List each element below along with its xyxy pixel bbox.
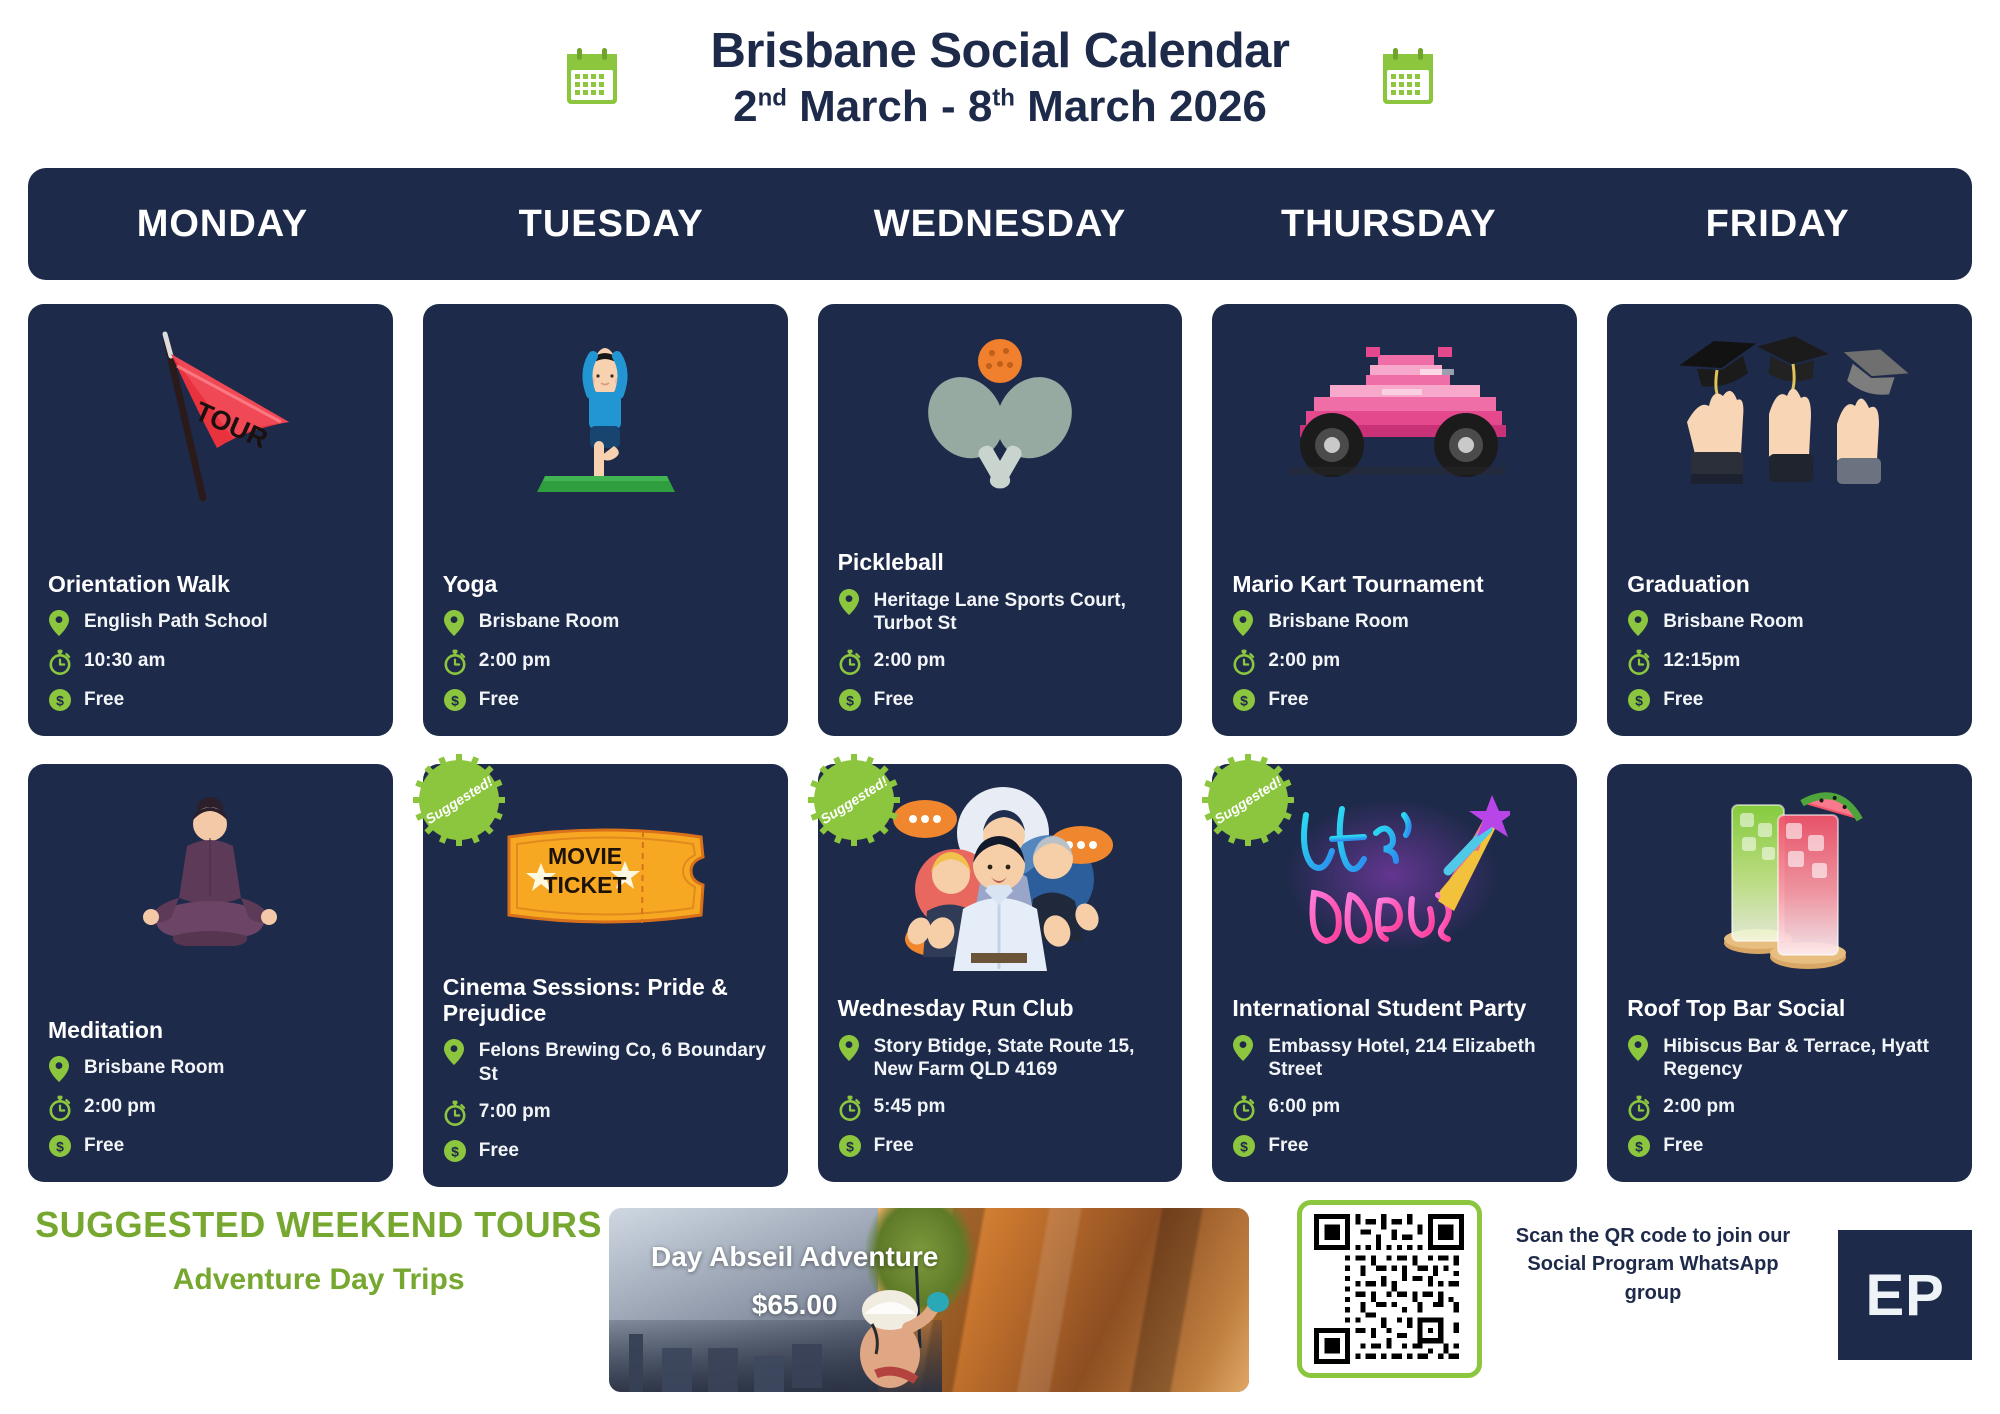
date-end-ordinal: th <box>992 85 1015 112</box>
qr-code-icon <box>1314 1214 1464 1364</box>
svg-text:$: $ <box>1240 1139 1248 1155</box>
whatsapp-qr-code[interactable] <box>1297 1200 1482 1378</box>
stopwatch-icon <box>838 649 862 675</box>
event-price: Free <box>1663 1133 1703 1158</box>
svg-text:$: $ <box>846 693 854 709</box>
location-pin-icon <box>1232 610 1256 636</box>
event-time: 10:30 am <box>84 648 165 673</box>
location-pin-icon <box>443 1039 467 1065</box>
promo-title: Day Abseil Adventure <box>609 1242 980 1273</box>
event-time-row: 2:00 pm <box>443 648 768 675</box>
event-title: Graduation <box>1627 571 1952 597</box>
dollar-coin-icon: $ <box>1232 688 1256 714</box>
event-location: Brisbane Room <box>1268 609 1408 634</box>
event-title: International Student Party <box>1232 995 1557 1021</box>
meditation-person-icon <box>48 778 373 974</box>
svg-text:$: $ <box>1635 1139 1643 1155</box>
event-card[interactable]: Meditation Brisbane Room 2:00 pm <box>28 764 393 1182</box>
weekday-label-monday: MONDAY <box>28 168 417 280</box>
qr-instruction-text: Scan the QR code to join our Social Prog… <box>1508 1222 1799 1307</box>
event-price: Free <box>1268 687 1308 712</box>
svg-text:$: $ <box>846 1139 854 1155</box>
event-card[interactable]: Graduation Brisbane Room 12:15pm <box>1607 304 1972 736</box>
event-price-row: $ Free <box>1627 1133 1952 1160</box>
event-location-row: Brisbane Room <box>1232 609 1557 636</box>
event-card[interactable]: Suggested! <box>1212 764 1577 1182</box>
suggested-tours-heading: SUGGESTED WEEKEND TOURS <box>28 1204 609 1245</box>
event-location: Story Btidge, State Route 15, New Farm Q… <box>874 1034 1163 1083</box>
location-pin-icon <box>1232 1035 1256 1061</box>
event-time-row: 5:45 pm <box>838 1094 1163 1121</box>
event-title: Orientation Walk <box>48 571 373 597</box>
event-price: Free <box>874 687 914 712</box>
suggested-badge: Suggested! <box>411 752 507 848</box>
stopwatch-icon <box>838 1095 862 1121</box>
event-time-row: 10:30 am <box>48 648 373 675</box>
svg-text:$: $ <box>451 693 459 709</box>
calendar-icon <box>563 46 621 113</box>
ep-logo-text: EP <box>1865 1262 1944 1329</box>
suggested-tours-block: SUGGESTED WEEKEND TOURS Adventure Day Tr… <box>28 1196 609 1297</box>
promo-price: $65.00 <box>609 1289 980 1321</box>
weekday-label-wednesday: WEDNESDAY <box>806 168 1195 280</box>
event-location-row: Embassy Hotel, 214 Elizabeth Street <box>1232 1034 1557 1083</box>
svg-text:MOVIE: MOVIE <box>548 843 622 869</box>
event-title: Mario Kart Tournament <box>1232 571 1557 597</box>
event-price: Free <box>1663 687 1703 712</box>
stopwatch-icon <box>48 649 72 675</box>
date-middle: March - 8 <box>787 82 992 131</box>
event-time: 7:00 pm <box>479 1099 551 1124</box>
event-location-row: Felons Brewing Co, 6 Boundary St <box>443 1038 768 1087</box>
event-time: 2:00 pm <box>1663 1094 1735 1119</box>
event-grid: TOUR Orientation Walk English Path Schoo… <box>28 304 1972 1187</box>
stopwatch-icon <box>443 649 467 675</box>
yoga-person-icon <box>443 318 768 514</box>
stopwatch-icon <box>48 1095 72 1121</box>
event-price: Free <box>84 1133 124 1158</box>
location-pin-icon <box>1627 610 1651 636</box>
dollar-coin-icon: $ <box>48 1134 72 1160</box>
dollar-coin-icon: $ <box>443 688 467 714</box>
ep-logo: EP <box>1838 1230 1972 1360</box>
footer: SUGGESTED WEEKEND TOURS Adventure Day Tr… <box>28 1196 1972 1396</box>
event-time-row: 2:00 pm <box>1232 648 1557 675</box>
event-time: 5:45 pm <box>874 1094 946 1119</box>
dollar-coin-icon: $ <box>1627 688 1651 714</box>
stopwatch-icon <box>1232 649 1256 675</box>
event-price-row: $ Free <box>443 1138 768 1165</box>
event-title: Pickleball <box>838 549 1163 575</box>
graduation-caps-icon <box>1627 318 1952 514</box>
event-card[interactable]: Roof Top Bar Social Hibiscus Bar & Terra… <box>1607 764 1972 1182</box>
weekday-label-friday: FRIDAY <box>1583 168 1972 280</box>
date-end: March 2026 <box>1015 82 1267 131</box>
event-location: Brisbane Room <box>1663 609 1803 634</box>
svg-text:$: $ <box>451 1144 459 1160</box>
event-price: Free <box>84 687 124 712</box>
event-location: Hibiscus Bar & Terrace, Hyatt Regency <box>1663 1034 1952 1083</box>
stopwatch-icon <box>1232 1095 1256 1121</box>
event-card[interactable]: TOUR Orientation Walk English Path Schoo… <box>28 304 393 736</box>
event-location-row: Brisbane Room <box>443 609 768 636</box>
day-column-friday: Graduation Brisbane Room 12:15pm <box>1607 304 1972 1187</box>
event-card[interactable]: Mario Kart Tournament Brisbane Room 2:00… <box>1212 304 1577 736</box>
dollar-coin-icon: $ <box>1627 1134 1651 1160</box>
event-title: Yoga <box>443 571 768 597</box>
event-price-row: $ Free <box>443 687 768 714</box>
svg-text:$: $ <box>1635 693 1643 709</box>
location-pin-icon <box>48 610 72 636</box>
event-price-row: $ Free <box>1232 687 1557 714</box>
event-location-row: Brisbane Room <box>48 1055 373 1082</box>
location-pin-icon <box>443 610 467 636</box>
stopwatch-icon <box>1627 649 1651 675</box>
location-pin-icon <box>48 1056 72 1082</box>
event-card[interactable]: Yoga Brisbane Room 2:00 pm <box>423 304 788 736</box>
location-pin-icon <box>838 1035 862 1061</box>
event-price-row: $ Free <box>1232 1133 1557 1160</box>
event-price: Free <box>479 1138 519 1163</box>
event-location-row: Story Btidge, State Route 15, New Farm Q… <box>838 1034 1163 1083</box>
event-time: 2:00 pm <box>1268 648 1340 673</box>
svg-text:$: $ <box>56 1139 64 1155</box>
event-location: Brisbane Room <box>84 1055 224 1080</box>
calendar-icon <box>1379 46 1437 113</box>
page-header: Brisbane Social Calendar 2nd March - 8th… <box>0 0 2000 158</box>
event-title: Roof Top Bar Social <box>1627 995 1952 1021</box>
event-card[interactable]: Suggested! MOVIE TICKET Cinema <box>423 764 788 1187</box>
event-price: Free <box>874 1133 914 1158</box>
event-time-row: 6:00 pm <box>1232 1094 1557 1121</box>
suggested-badge: Suggested! <box>1200 752 1296 848</box>
event-time-row: 12:15pm <box>1627 648 1952 675</box>
event-time: 2:00 pm <box>874 648 946 673</box>
event-location-row: Hibiscus Bar & Terrace, Hyatt Regency <box>1627 1034 1952 1083</box>
calendar-page: Brisbane Social Calendar 2nd March - 8th… <box>0 0 2000 1414</box>
weekday-label-tuesday: TUESDAY <box>417 168 806 280</box>
suggested-tours-subheading: Adventure Day Trips <box>28 1263 609 1297</box>
event-price-row: $ Free <box>838 687 1163 714</box>
svg-text:TICKET: TICKET <box>544 872 627 898</box>
pickleball-paddles-icon <box>838 318 1163 514</box>
event-location: Embassy Hotel, 214 Elizabeth Street <box>1268 1034 1557 1083</box>
go-kart-icon <box>1232 318 1557 514</box>
dollar-coin-icon: $ <box>48 688 72 714</box>
event-location: English Path School <box>84 609 268 634</box>
location-pin-icon <box>1627 1035 1651 1061</box>
dollar-coin-icon: $ <box>443 1139 467 1165</box>
event-title: Meditation <box>48 1017 373 1043</box>
event-time: 6:00 pm <box>1268 1094 1340 1119</box>
event-time: 12:15pm <box>1663 648 1740 673</box>
dollar-coin-icon: $ <box>1232 1134 1256 1160</box>
promo-text: Day Abseil Adventure $65.00 <box>609 1242 980 1321</box>
stopwatch-icon <box>443 1100 467 1126</box>
event-title: Cinema Sessions: Pride & Prejudice <box>443 974 768 1026</box>
weekday-label-thursday: THURSDAY <box>1194 168 1583 280</box>
event-card[interactable]: Suggested! <box>818 764 1183 1182</box>
event-location: Brisbane Room <box>479 609 619 634</box>
date-start-day: 2 <box>733 82 757 131</box>
event-location-row: Heritage Lane Sports Court, Turbot St <box>838 588 1163 637</box>
day-column-tuesday: Yoga Brisbane Room 2:00 pm <box>423 304 788 1187</box>
tour-flag-icon: TOUR <box>48 318 373 514</box>
event-time-row: 2:00 pm <box>838 648 1163 675</box>
event-time-row: 7:00 pm <box>443 1099 768 1126</box>
weekend-tour-promo-card[interactable]: Day Abseil Adventure $65.00 <box>609 1208 1248 1392</box>
stopwatch-icon <box>1627 1095 1651 1121</box>
event-card[interactable]: Pickleball Heritage Lane Sports Court, T… <box>818 304 1183 736</box>
dollar-coin-icon: $ <box>838 688 862 714</box>
event-location: Felons Brewing Co, 6 Boundary St <box>479 1038 768 1087</box>
event-price-row: $ Free <box>1627 687 1952 714</box>
event-price-row: $ Free <box>838 1133 1163 1160</box>
page-title: Brisbane Social Calendar <box>711 25 1290 78</box>
event-time: 2:00 pm <box>479 648 551 673</box>
svg-text:$: $ <box>56 693 64 709</box>
event-time-row: 2:00 pm <box>1627 1094 1952 1121</box>
cocktails-icon <box>1627 778 1952 974</box>
event-title: Wednesday Run Club <box>838 995 1163 1021</box>
weekday-header-bar: MONDAY TUESDAY WEDNESDAY THURSDAY FRIDAY <box>28 168 1972 280</box>
date-range: 2nd March - 8th March 2026 <box>711 82 1290 133</box>
day-column-thursday: Mario Kart Tournament Brisbane Room 2:00… <box>1212 304 1577 1187</box>
event-price: Free <box>479 687 519 712</box>
suggested-badge: Suggested! <box>806 752 902 848</box>
event-price: Free <box>1268 1133 1308 1158</box>
day-column-monday: TOUR Orientation Walk English Path Schoo… <box>28 304 393 1187</box>
event-time-row: 2:00 pm <box>48 1094 373 1121</box>
date-start-ordinal: nd <box>758 85 787 112</box>
dollar-coin-icon: $ <box>838 1134 862 1160</box>
event-location-row: English Path School <box>48 609 373 636</box>
day-column-wednesday: Pickleball Heritage Lane Sports Court, T… <box>818 304 1183 1187</box>
event-location-row: Brisbane Room <box>1627 609 1952 636</box>
event-location: Heritage Lane Sports Court, Turbot St <box>874 588 1163 637</box>
svg-text:$: $ <box>1240 693 1248 709</box>
event-price-row: $ Free <box>48 1133 373 1160</box>
event-price-row: $ Free <box>48 687 373 714</box>
event-time: 2:00 pm <box>84 1094 156 1119</box>
location-pin-icon <box>838 589 862 615</box>
